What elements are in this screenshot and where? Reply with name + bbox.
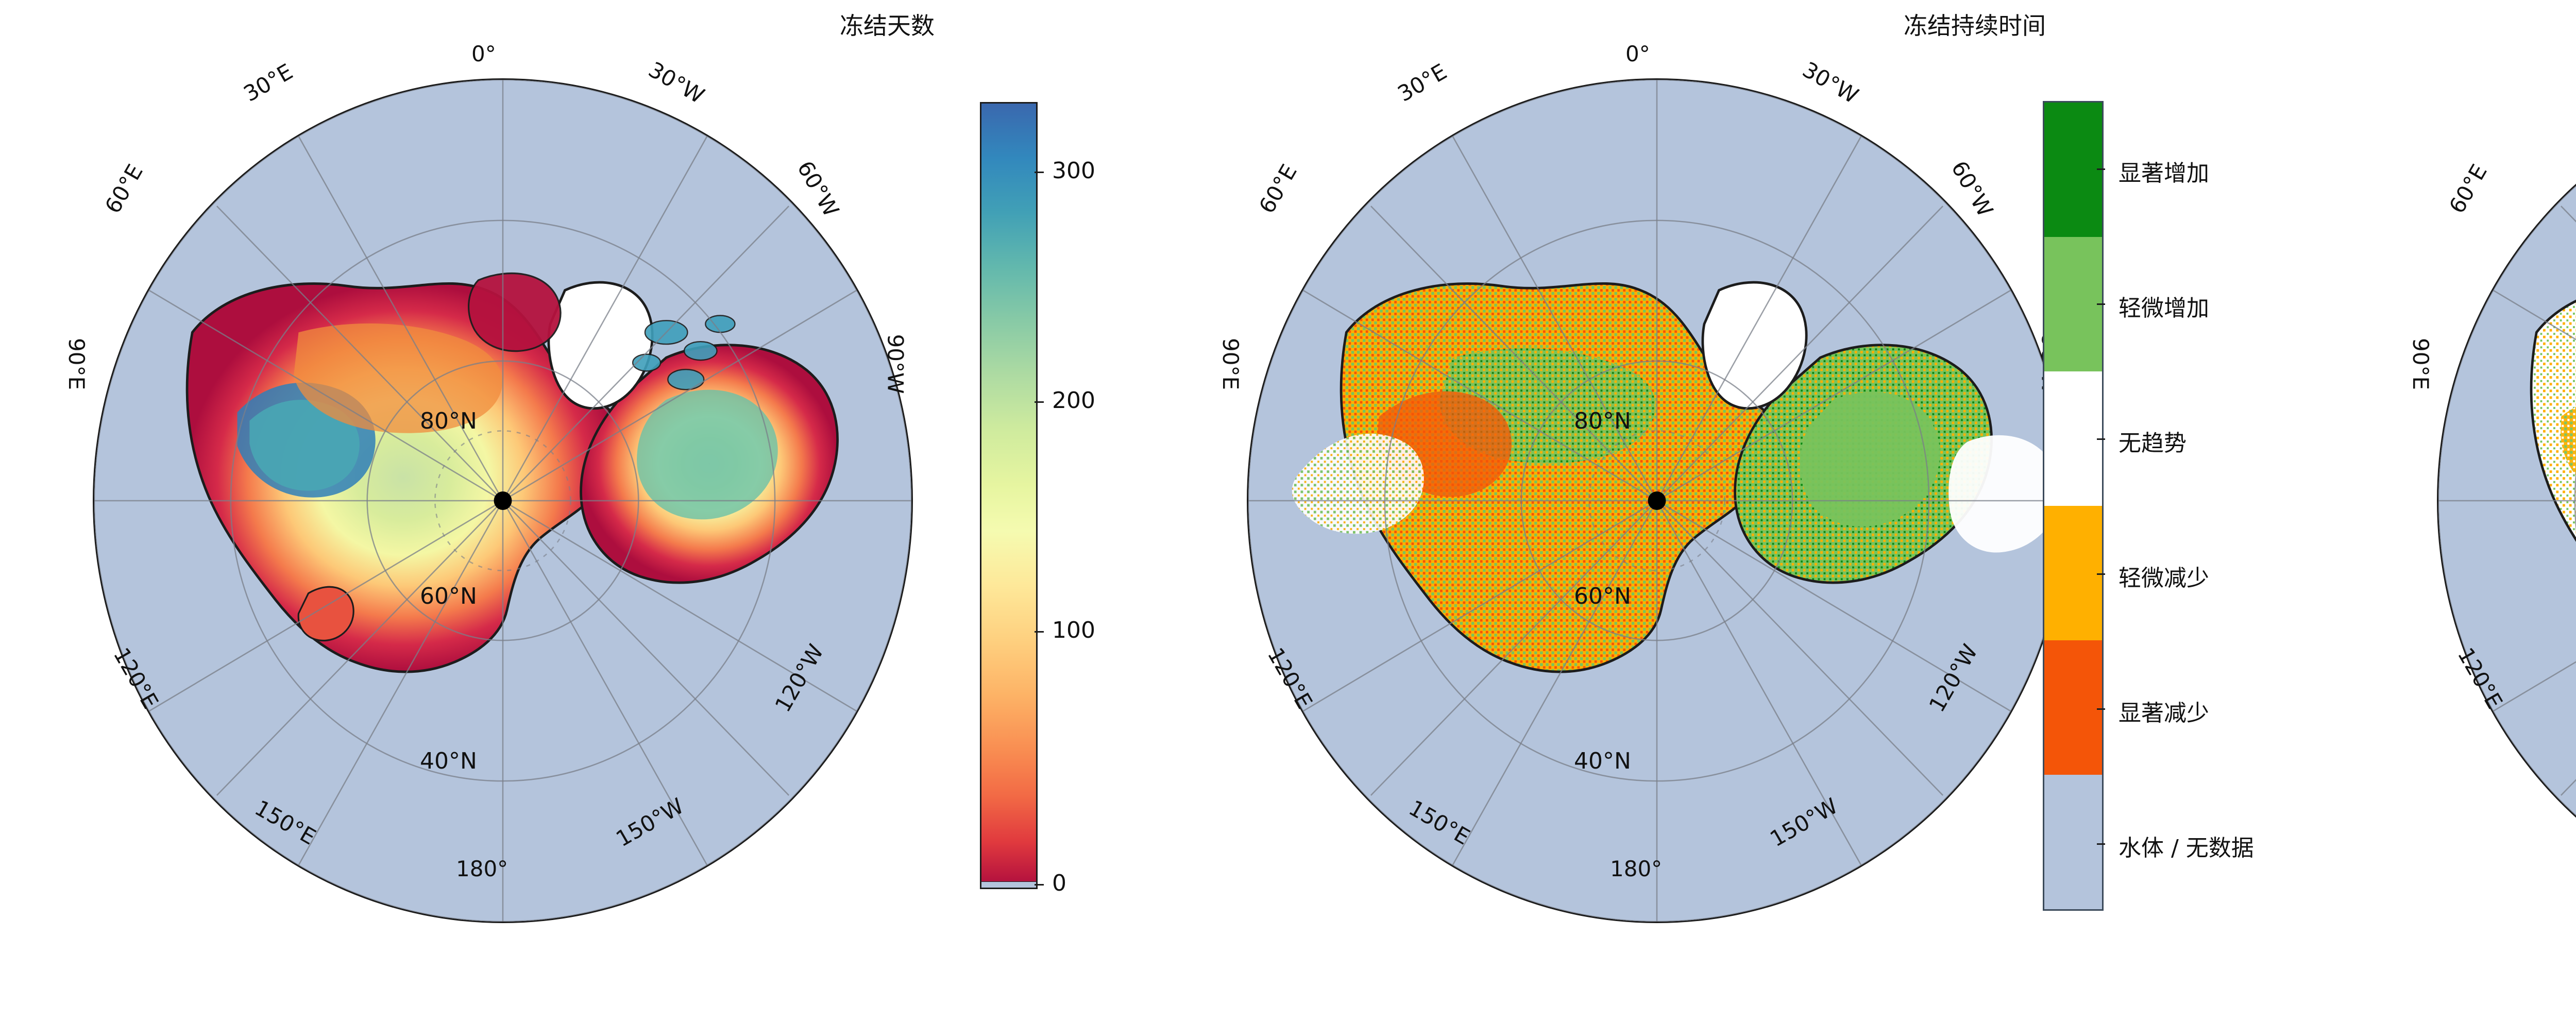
cb-ticklabel-0: 0 — [1052, 870, 1066, 896]
cb-cat-label-1: 轻微增加 — [2119, 290, 2209, 322]
cb-swatch-slight-decrease — [2044, 506, 2102, 640]
cb-cat-tick-3 — [2097, 573, 2105, 575]
map-disc — [1247, 78, 2067, 923]
lon-label-180: 180° — [1610, 856, 1662, 881]
cb-tick-200 — [1035, 401, 1044, 403]
panel-title: 冻结天数 — [840, 7, 935, 41]
colorbar-freeze-days — [980, 102, 1038, 883]
lat-label-80n: 80°N — [420, 408, 477, 434]
map-raster — [94, 80, 911, 922]
cb-swatch-significant-increase — [2044, 103, 2102, 237]
figure-root: 冻结天数 — [0, 0, 2576, 1021]
colorbar-freeze-duration — [2043, 101, 2104, 911]
lat-label-40n: 40°N — [420, 748, 477, 774]
cb-cat-label-5: 水体 / 无数据 — [2119, 829, 2254, 862]
cb-cat-tick-2 — [2097, 438, 2105, 440]
cb-cat-label-4: 显著减少 — [2119, 694, 2209, 727]
lon-label-90e: 90°E — [64, 338, 89, 390]
polar-map: 0° 30°W 60°W 90°W 120°W 150°W 180° 150°E… — [1247, 78, 2067, 923]
pole-marker — [1648, 491, 1666, 510]
cb-cat-tick-0 — [2097, 168, 2105, 170]
cb-ticklabel-300: 300 — [1052, 158, 1095, 184]
cb-cat-tick-5 — [2097, 843, 2105, 845]
lon-label-90e: 90°E — [1218, 338, 1243, 390]
cb-cat-tick-1 — [2097, 303, 2105, 305]
cb-tick-300 — [1035, 172, 1044, 173]
panel-freeze-onset: 冻结开始时间 — [2375, 0, 2576, 1021]
map-disc — [93, 78, 913, 923]
cb-swatch-slight-increase — [2044, 237, 2102, 371]
cb-cat-label-0: 显著增加 — [2119, 155, 2209, 188]
lon-label-0: 0° — [1625, 41, 1650, 66]
lon-label-90w: 90°W — [883, 334, 908, 394]
panel-title: 冻结持续时间 — [1904, 7, 2046, 41]
cb-tick-0 — [1035, 884, 1044, 886]
cb-tick-100 — [1035, 631, 1044, 633]
polar-map: 0° 30°W 60°W 90°W 120°W 150°W 180° 150°E… — [93, 78, 913, 923]
cb-cat-label-2: 无趋势 — [2119, 424, 2187, 457]
lat-label-40n: 40°N — [1574, 748, 1631, 774]
cb-cat-label-3: 轻微减少 — [2119, 559, 2209, 592]
pole-marker — [494, 491, 512, 510]
cb-ticklabel-200: 200 — [1052, 387, 1095, 414]
colorbar-water-swatch — [980, 882, 1038, 889]
polar-map: 0° 30°W 60°W 90°W 120°W 150°W 180° 150°E… — [2437, 78, 2576, 923]
lon-label-90e: 90°E — [2408, 338, 2433, 390]
panel-freeze-duration: 冻结持续时间 — [1185, 0, 2373, 1021]
lon-label-0: 0° — [471, 41, 496, 66]
lat-label-60n: 60°N — [1574, 583, 1631, 609]
cb-swatch-water-nodata — [2044, 775, 2102, 909]
cb-swatch-no-trend — [2044, 371, 2102, 506]
map-raster — [1248, 80, 2065, 922]
cb-swatch-significant-decrease — [2044, 640, 2102, 775]
panel-freeze-days: 冻结天数 — [0, 0, 1188, 1021]
lat-label-80n: 80°N — [1574, 408, 1631, 434]
cb-ticklabel-100: 100 — [1052, 617, 1095, 643]
lat-label-60n: 60°N — [420, 583, 477, 609]
lon-label-180: 180° — [456, 856, 508, 881]
cb-cat-tick-4 — [2097, 708, 2105, 710]
